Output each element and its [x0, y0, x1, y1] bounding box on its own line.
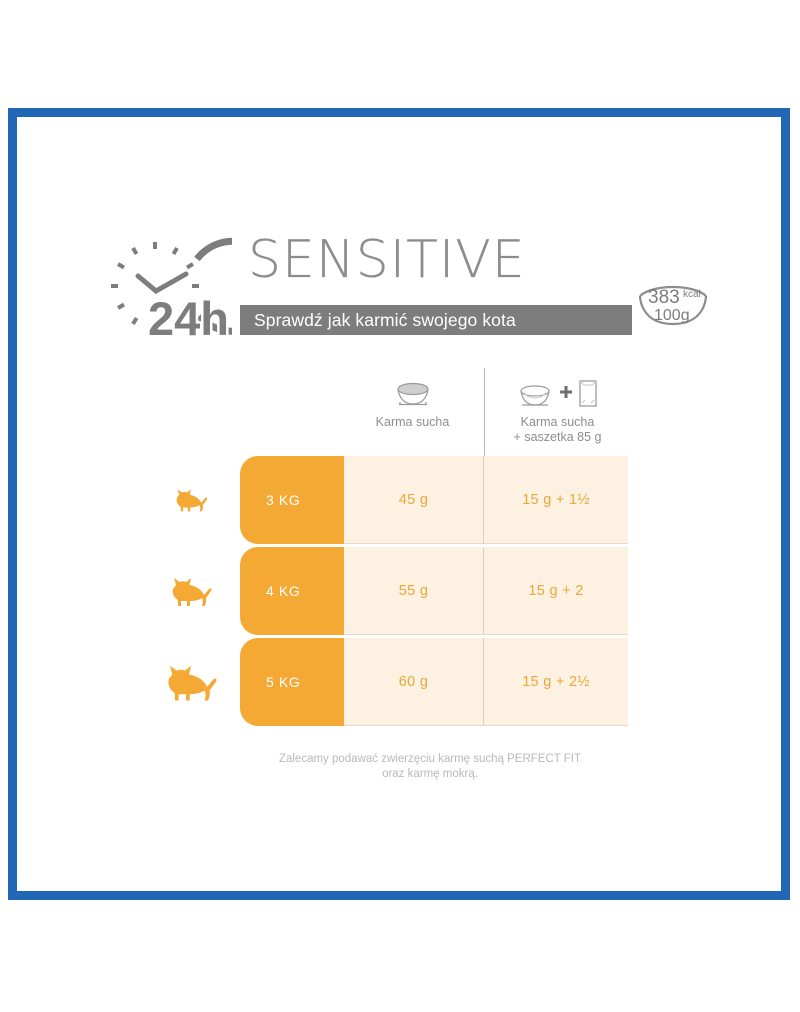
dry-food-bowl-icon [387, 370, 439, 410]
dry-plus-wet-value: 15 g + 2½ [522, 674, 590, 690]
weight-label: 3 KG [240, 492, 300, 508]
cat-silhouette-icon [171, 487, 211, 513]
column-headers: Karma sucha Karma sucha + saszetka 85 g [340, 370, 630, 455]
dry-food-bowl-plus-pouch-icon [516, 370, 600, 410]
page-title: SENSITIVE [248, 232, 526, 288]
feeding-table: 3 KG 45 g 15 g + 1½ 4 KG 55 g 15 g + 2 5… [240, 456, 628, 730]
header-block: 24h SENSITIVE Sprawdź jak karmić swojego… [100, 232, 710, 342]
column-label-line1: Karma sucha [376, 415, 450, 429]
column-label-line2: + saszetka 85 g [514, 430, 602, 445]
dry-plus-wet-amount-cell: 15 g + 1½ [484, 456, 628, 544]
column-header-dry-plus-wet: Karma sucha + saszetka 85 g [485, 370, 630, 455]
weight-label: 5 KG [240, 674, 300, 690]
footer-note-line2: oraz karmę mokrą. [200, 767, 660, 782]
dry-amount-value: 60 g [399, 674, 428, 690]
weight-cell: 4 KG [240, 547, 344, 635]
column-header-dry-food: Karma sucha [340, 370, 485, 455]
dry-amount-value: 45 g [399, 492, 428, 508]
cat-silhouette-icon [160, 662, 222, 703]
feeding-chart-page: 24h SENSITIVE Sprawdź jak karmić swojego… [0, 0, 800, 1012]
subtitle-bar: Sprawdź jak karmić swojego kota [240, 305, 632, 335]
column-label-line1: Karma sucha [514, 415, 602, 430]
cat-icons-column [146, 456, 236, 730]
kcal-value-text: 383 [648, 287, 680, 308]
dry-amount-value: 55 g [399, 583, 428, 599]
kcal-unit-text: kcal [683, 289, 701, 300]
weight-cell: 3 KG [240, 456, 344, 544]
dry-plus-wet-amount-cell: 15 g + 2½ [484, 638, 628, 726]
cat-row-5kg [146, 638, 236, 726]
dry-amount-cell: 60 g [344, 638, 484, 726]
table-row: 3 KG 45 g 15 g + 1½ [240, 456, 628, 544]
bowl-kcal-icon: 383 kcal 100g [636, 274, 710, 340]
dry-plus-wet-amount-cell: 15 g + 2 [484, 547, 628, 635]
subtitle-text: Sprawdź jak karmić swojego kota [240, 310, 516, 331]
column-header-dry-food-label: Karma sucha [376, 415, 450, 430]
column-header-dry-plus-wet-label: Karma sucha + saszetka 85 g [514, 415, 602, 445]
dry-plus-wet-value: 15 g + 2 [528, 583, 583, 599]
table-row: 5 KG 60 g 15 g + 2½ [240, 638, 628, 726]
dry-amount-cell: 55 g [344, 547, 484, 635]
table-row: 4 KG 55 g 15 g + 2 [240, 547, 628, 635]
cat-row-3kg [146, 456, 236, 544]
column-divider [484, 368, 485, 456]
cat-silhouette-icon [166, 575, 216, 608]
footer-note: Zalecamy podawać zwierzęciu karmę suchą … [200, 752, 660, 782]
kcal-per-text: 100g [654, 307, 690, 324]
dry-plus-wet-value: 15 g + 1½ [522, 492, 590, 508]
clock-24h-icon: 24h [100, 234, 232, 340]
badge-hours-text: 24h [148, 292, 229, 340]
footer-note-line1: Zalecamy podawać zwierzęciu karmę suchą … [200, 752, 660, 767]
weight-cell: 5 KG [240, 638, 344, 726]
weight-label: 4 KG [240, 583, 300, 599]
cat-row-4kg [146, 547, 236, 635]
dry-amount-cell: 45 g [344, 456, 484, 544]
